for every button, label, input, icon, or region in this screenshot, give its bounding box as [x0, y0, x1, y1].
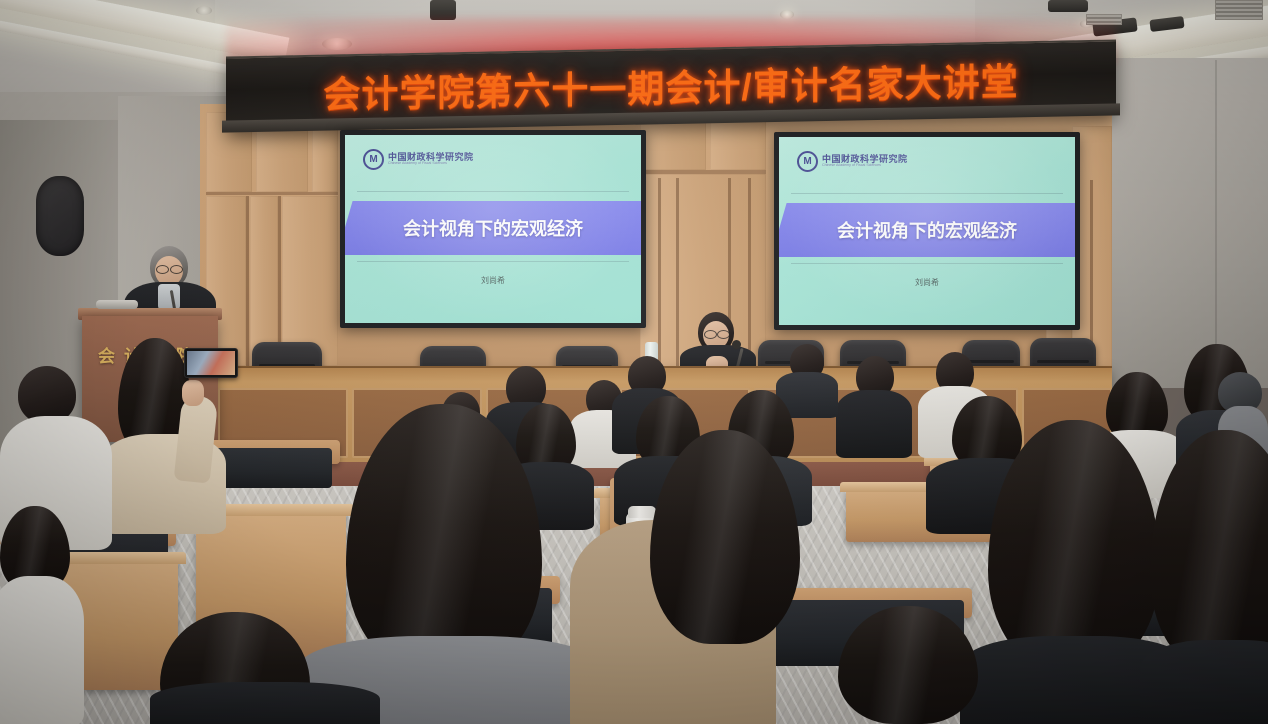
- glasses-icon: [717, 330, 730, 339]
- slide-title: 会计视角下的宏观经济: [403, 215, 583, 241]
- slide-title: 会计视角下的宏观经济: [837, 217, 1017, 243]
- stage-spotlight-icon: [430, 0, 456, 20]
- slide-title-band: 会计视角下的宏观经济: [345, 201, 641, 255]
- left-projection-screen: M 中国财政科学研究院 Chinese Academy of Fiscal Sc…: [340, 130, 646, 328]
- audience-hair: [988, 420, 1160, 670]
- logo-icon: M: [363, 149, 384, 170]
- glasses-icon: [156, 265, 169, 274]
- panel-reveal: [246, 196, 249, 366]
- panel-reveal: [206, 192, 338, 195]
- audience-body: [150, 682, 380, 724]
- panel-reveal: [1090, 180, 1093, 366]
- hand: [182, 380, 204, 406]
- smartphone-icon[interactable]: [184, 348, 238, 378]
- audience-hair: [1150, 430, 1268, 670]
- slide-author: 刘尚希: [779, 277, 1075, 288]
- speaker-collar: [158, 284, 180, 310]
- logo-icon: M: [797, 151, 818, 172]
- foreground-audience-member: [828, 606, 1008, 724]
- wall-speaker-icon: [36, 176, 84, 256]
- audience-body: [836, 390, 912, 458]
- slide-divider: [357, 261, 629, 262]
- glasses-icon: [170, 265, 183, 274]
- slide-surface: M 中国财政科学研究院 Chinese Academy of Fiscal Sc…: [345, 135, 641, 323]
- panel-reveal: [278, 196, 281, 366]
- wood-panel: [250, 196, 278, 366]
- right-projection-screen: M 中国财政科学研究院 Chinese Academy of Fiscal Sc…: [774, 132, 1080, 330]
- panel-reveal: [640, 170, 766, 174]
- foreground-audience-member: [1150, 430, 1268, 724]
- air-vent-icon: [1215, 0, 1263, 20]
- wall-right-seam: [1215, 60, 1217, 380]
- audience-body: [1140, 640, 1268, 724]
- ceiling-downlight-icon: [196, 6, 212, 15]
- slide-logo-en: Chinese Academy of Fiscal Sciences: [388, 162, 474, 166]
- slide-surface: M 中国财政科学研究院 Chinese Academy of Fiscal Sc…: [779, 137, 1075, 325]
- audience-member: [836, 356, 912, 456]
- slide-divider: [357, 191, 629, 192]
- foreground-audience-member: [560, 430, 780, 724]
- glasses-icon: [704, 330, 717, 339]
- audience-hair: [650, 430, 800, 644]
- phone-screen: [187, 351, 235, 375]
- foreground-audience-member: [150, 612, 380, 724]
- stage-spotlight-icon: [1048, 0, 1088, 12]
- slide-logo: M 中国财政科学研究院 Chinese Academy of Fiscal Sc…: [363, 149, 474, 170]
- wood-panel: [282, 196, 338, 366]
- slide-divider: [791, 193, 1063, 194]
- panel-reveal: [658, 178, 661, 368]
- audience-hair: [838, 606, 978, 724]
- podium-lamp: [96, 300, 138, 309]
- microphone-icon: [732, 340, 741, 349]
- slide-logo: M 中国财政科学研究院 Chinese Academy of Fiscal Sc…: [797, 151, 908, 172]
- wall-right: [1105, 58, 1268, 388]
- audience-member: [0, 506, 84, 724]
- slide-author: 刘尚希: [345, 275, 641, 286]
- lecture-hall-photo: 会计学院第六十一期会计/审计名家大讲堂 M 中国财政科学研究院 Chinese …: [0, 0, 1268, 724]
- slide-logo-en: Chinese Academy of Fiscal Sciences: [822, 164, 908, 168]
- slide-divider: [791, 263, 1063, 264]
- slide-title-band: 会计视角下的宏观经济: [779, 203, 1075, 257]
- audience-body: [0, 576, 84, 724]
